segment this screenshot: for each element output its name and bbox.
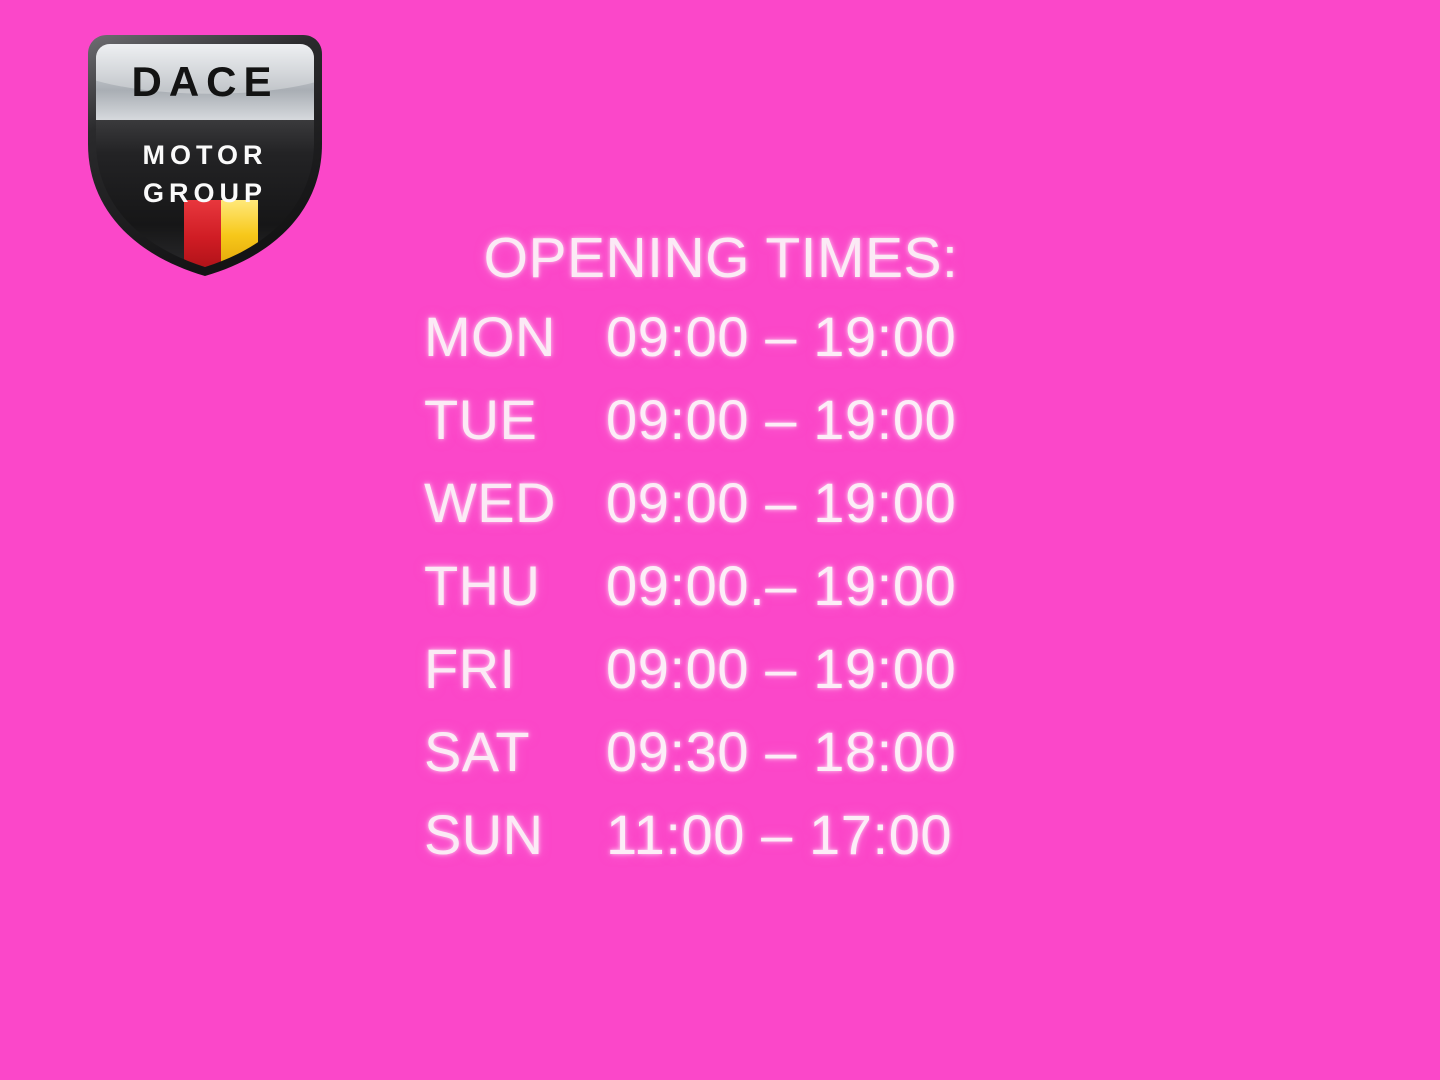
day-hours-sun: 11:00 – 17:00 [606,802,952,867]
day-label-mon: MON [424,304,606,369]
flag-stripe-red [184,200,221,270]
day-hours-fri: 09:00 – 19:00 [606,636,956,701]
day-hours-mon: 09:00 – 19:00 [606,304,956,369]
schedule-row-thu: THU 09:00.– 19:00 [424,553,1044,636]
schedule-row-sun: SUN 11:00 – 17:00 [424,802,1044,885]
schedule-row-fri: FRI 09:00 – 19:00 [424,636,1044,719]
logo-text-group: GROUP [143,178,267,208]
logo-text-motor: MOTOR [143,140,268,170]
day-hours-thu: 09:00.– 19:00 [606,553,956,618]
day-label-sat: SAT [424,719,606,784]
day-label-tue: TUE [424,387,606,452]
day-label-wed: WED [424,470,606,535]
logo-text-dace: DACE [131,58,278,105]
schedule-row-tue: TUE 09:00 – 19:00 [424,387,1044,470]
opening-times-poster: DACE MOTOR GROUP OPENING TIMES: MON 09:0… [0,0,1440,1080]
day-hours-sat: 09:30 – 18:00 [606,719,956,784]
day-label-fri: FRI [424,636,606,701]
day-hours-tue: 09:00 – 19:00 [606,387,956,452]
dace-motor-group-logo: DACE MOTOR GROUP [76,24,334,276]
schedule-row-mon: MON 09:00 – 19:00 [424,304,1044,387]
day-label-thu: THU [424,553,606,618]
day-hours-wed: 09:00 – 19:00 [606,470,956,535]
day-label-sun: SUN [424,802,606,867]
opening-times-heading: OPENING TIMES: [424,228,1044,290]
opening-times-block: OPENING TIMES: MON 09:00 – 19:00 TUE 09:… [424,228,1044,885]
schedule-row-sat: SAT 09:30 – 18:00 [424,719,1044,802]
schedule-row-wed: WED 09:00 – 19:00 [424,470,1044,553]
